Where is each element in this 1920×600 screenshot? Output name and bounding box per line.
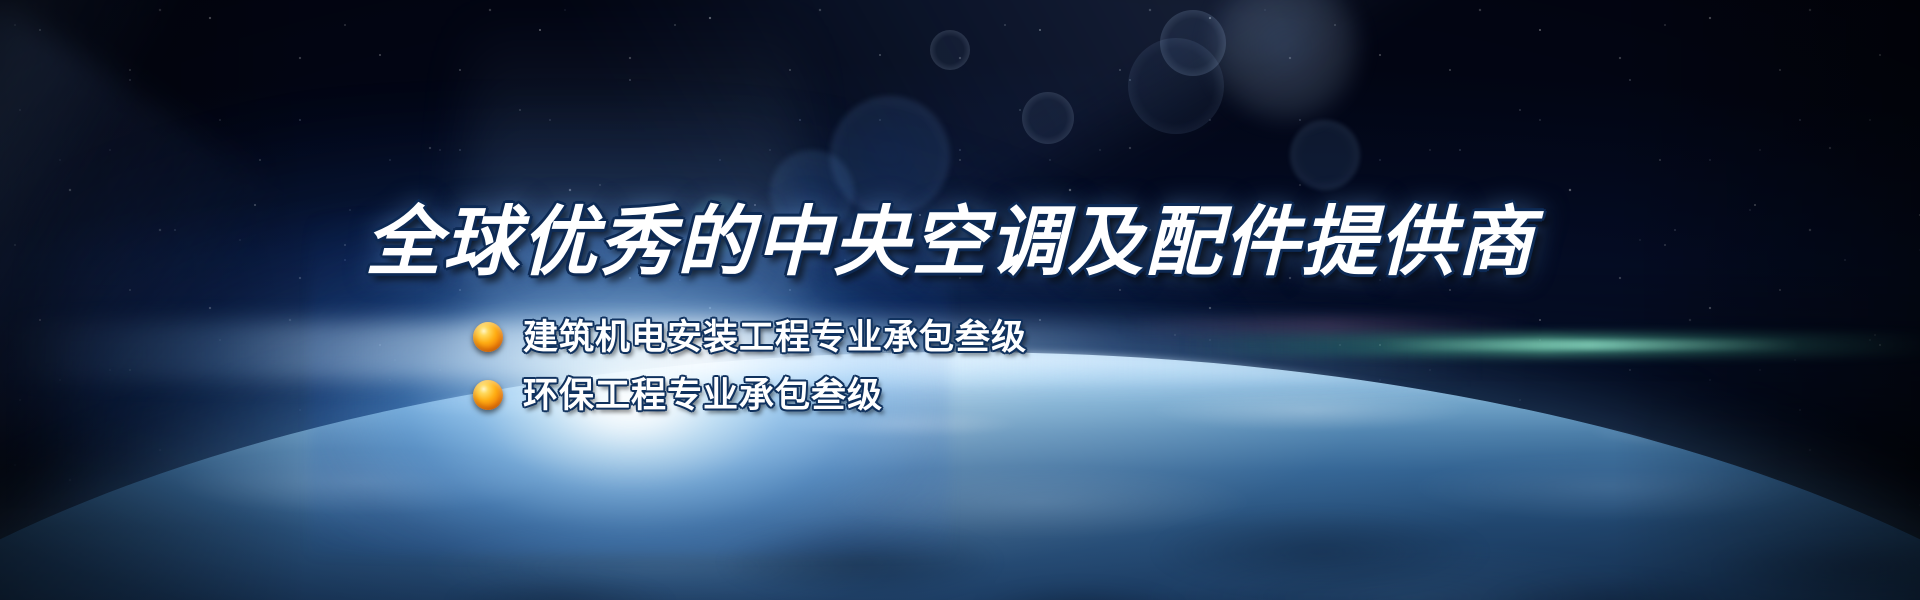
feature-label: 环保工程专业承包叁级 bbox=[523, 378, 883, 413]
orange-sphere-bullet-icon bbox=[473, 322, 503, 352]
feature-label: 建筑机电安装工程专业承包叁级 bbox=[523, 320, 1027, 355]
list-item: 建筑机电安装工程专业承包叁级 bbox=[473, 311, 1027, 363]
list-item: 环保工程专业承包叁级 bbox=[473, 369, 1027, 421]
orange-sphere-bullet-icon bbox=[473, 380, 503, 410]
banner-feature-list: 建筑机电安装工程专业承包叁级 环保工程专业承包叁级 bbox=[473, 311, 1027, 427]
banner-headline: 全球优秀的中央空调及配件提供商 bbox=[365, 205, 1535, 281]
banner-content: 全球优秀的中央空调及配件提供商 建筑机电安装工程专业承包叁级 环保工程专业承包叁… bbox=[0, 0, 1920, 600]
hero-banner: 全球优秀的中央空调及配件提供商 建筑机电安装工程专业承包叁级 环保工程专业承包叁… bbox=[0, 0, 1920, 600]
